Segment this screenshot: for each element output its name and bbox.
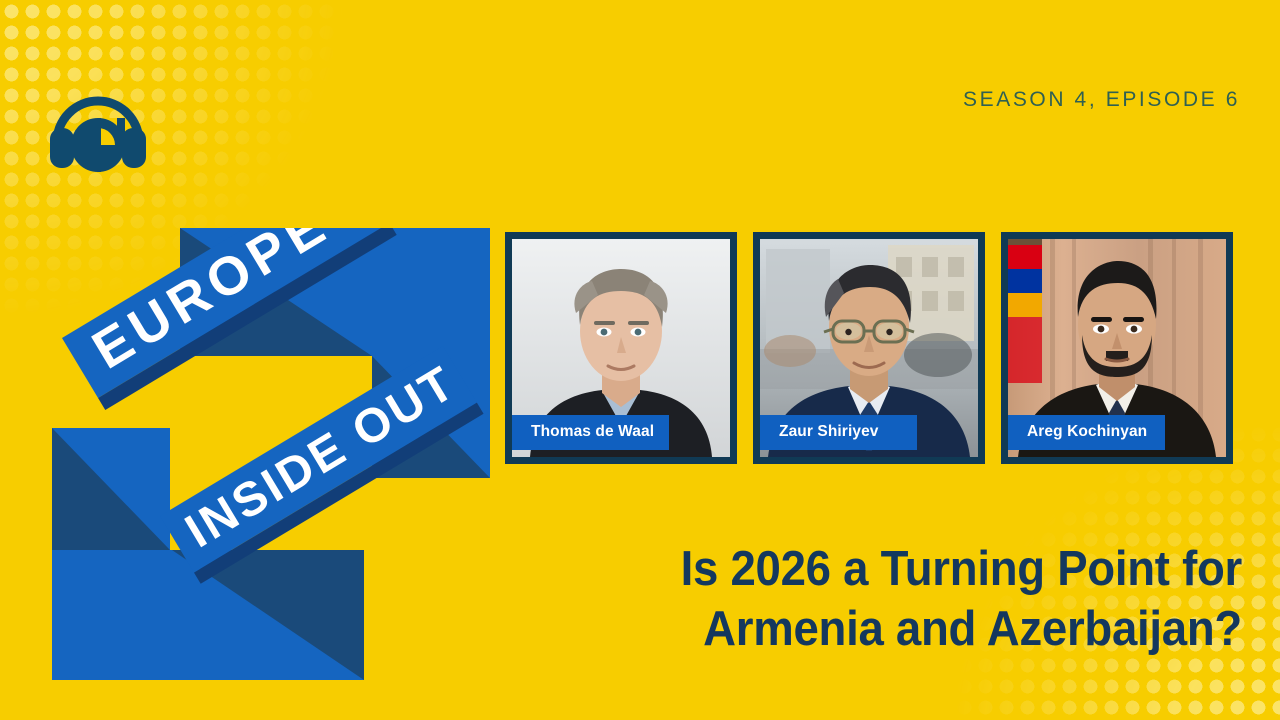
episode-title-line-1: Is 2026 a Turning Point for xyxy=(665,540,1242,600)
guest-name-label: Areg Kochinyan xyxy=(1008,415,1165,450)
headphones-monogram-icon xyxy=(45,82,151,174)
episode-title: Is 2026 a Turning Point for Armenia and … xyxy=(665,540,1242,660)
guest-card[interactable]: Zaur Shiriyev xyxy=(753,232,985,464)
episode-title-line-2: Armenia and Azerbaijan? xyxy=(665,600,1242,660)
season-episode-label: SEASON 4, EPISODE 6 xyxy=(963,88,1240,112)
guest-name-label: Zaur Shiriyev xyxy=(760,415,917,450)
podcast-episode-card: SEASON 4, EPISODE 6 EUROPE xyxy=(0,0,1280,720)
guest-name-label: Thomas de Waal xyxy=(512,415,669,450)
guest-card[interactable]: Thomas de Waal xyxy=(505,232,737,464)
guest-list: Thomas de Waal xyxy=(505,232,1233,464)
guest-card[interactable]: Areg Kochinyan xyxy=(1001,232,1233,464)
show-logo-europe-inside-out: EUROPE INSIDE OUT xyxy=(42,228,502,680)
